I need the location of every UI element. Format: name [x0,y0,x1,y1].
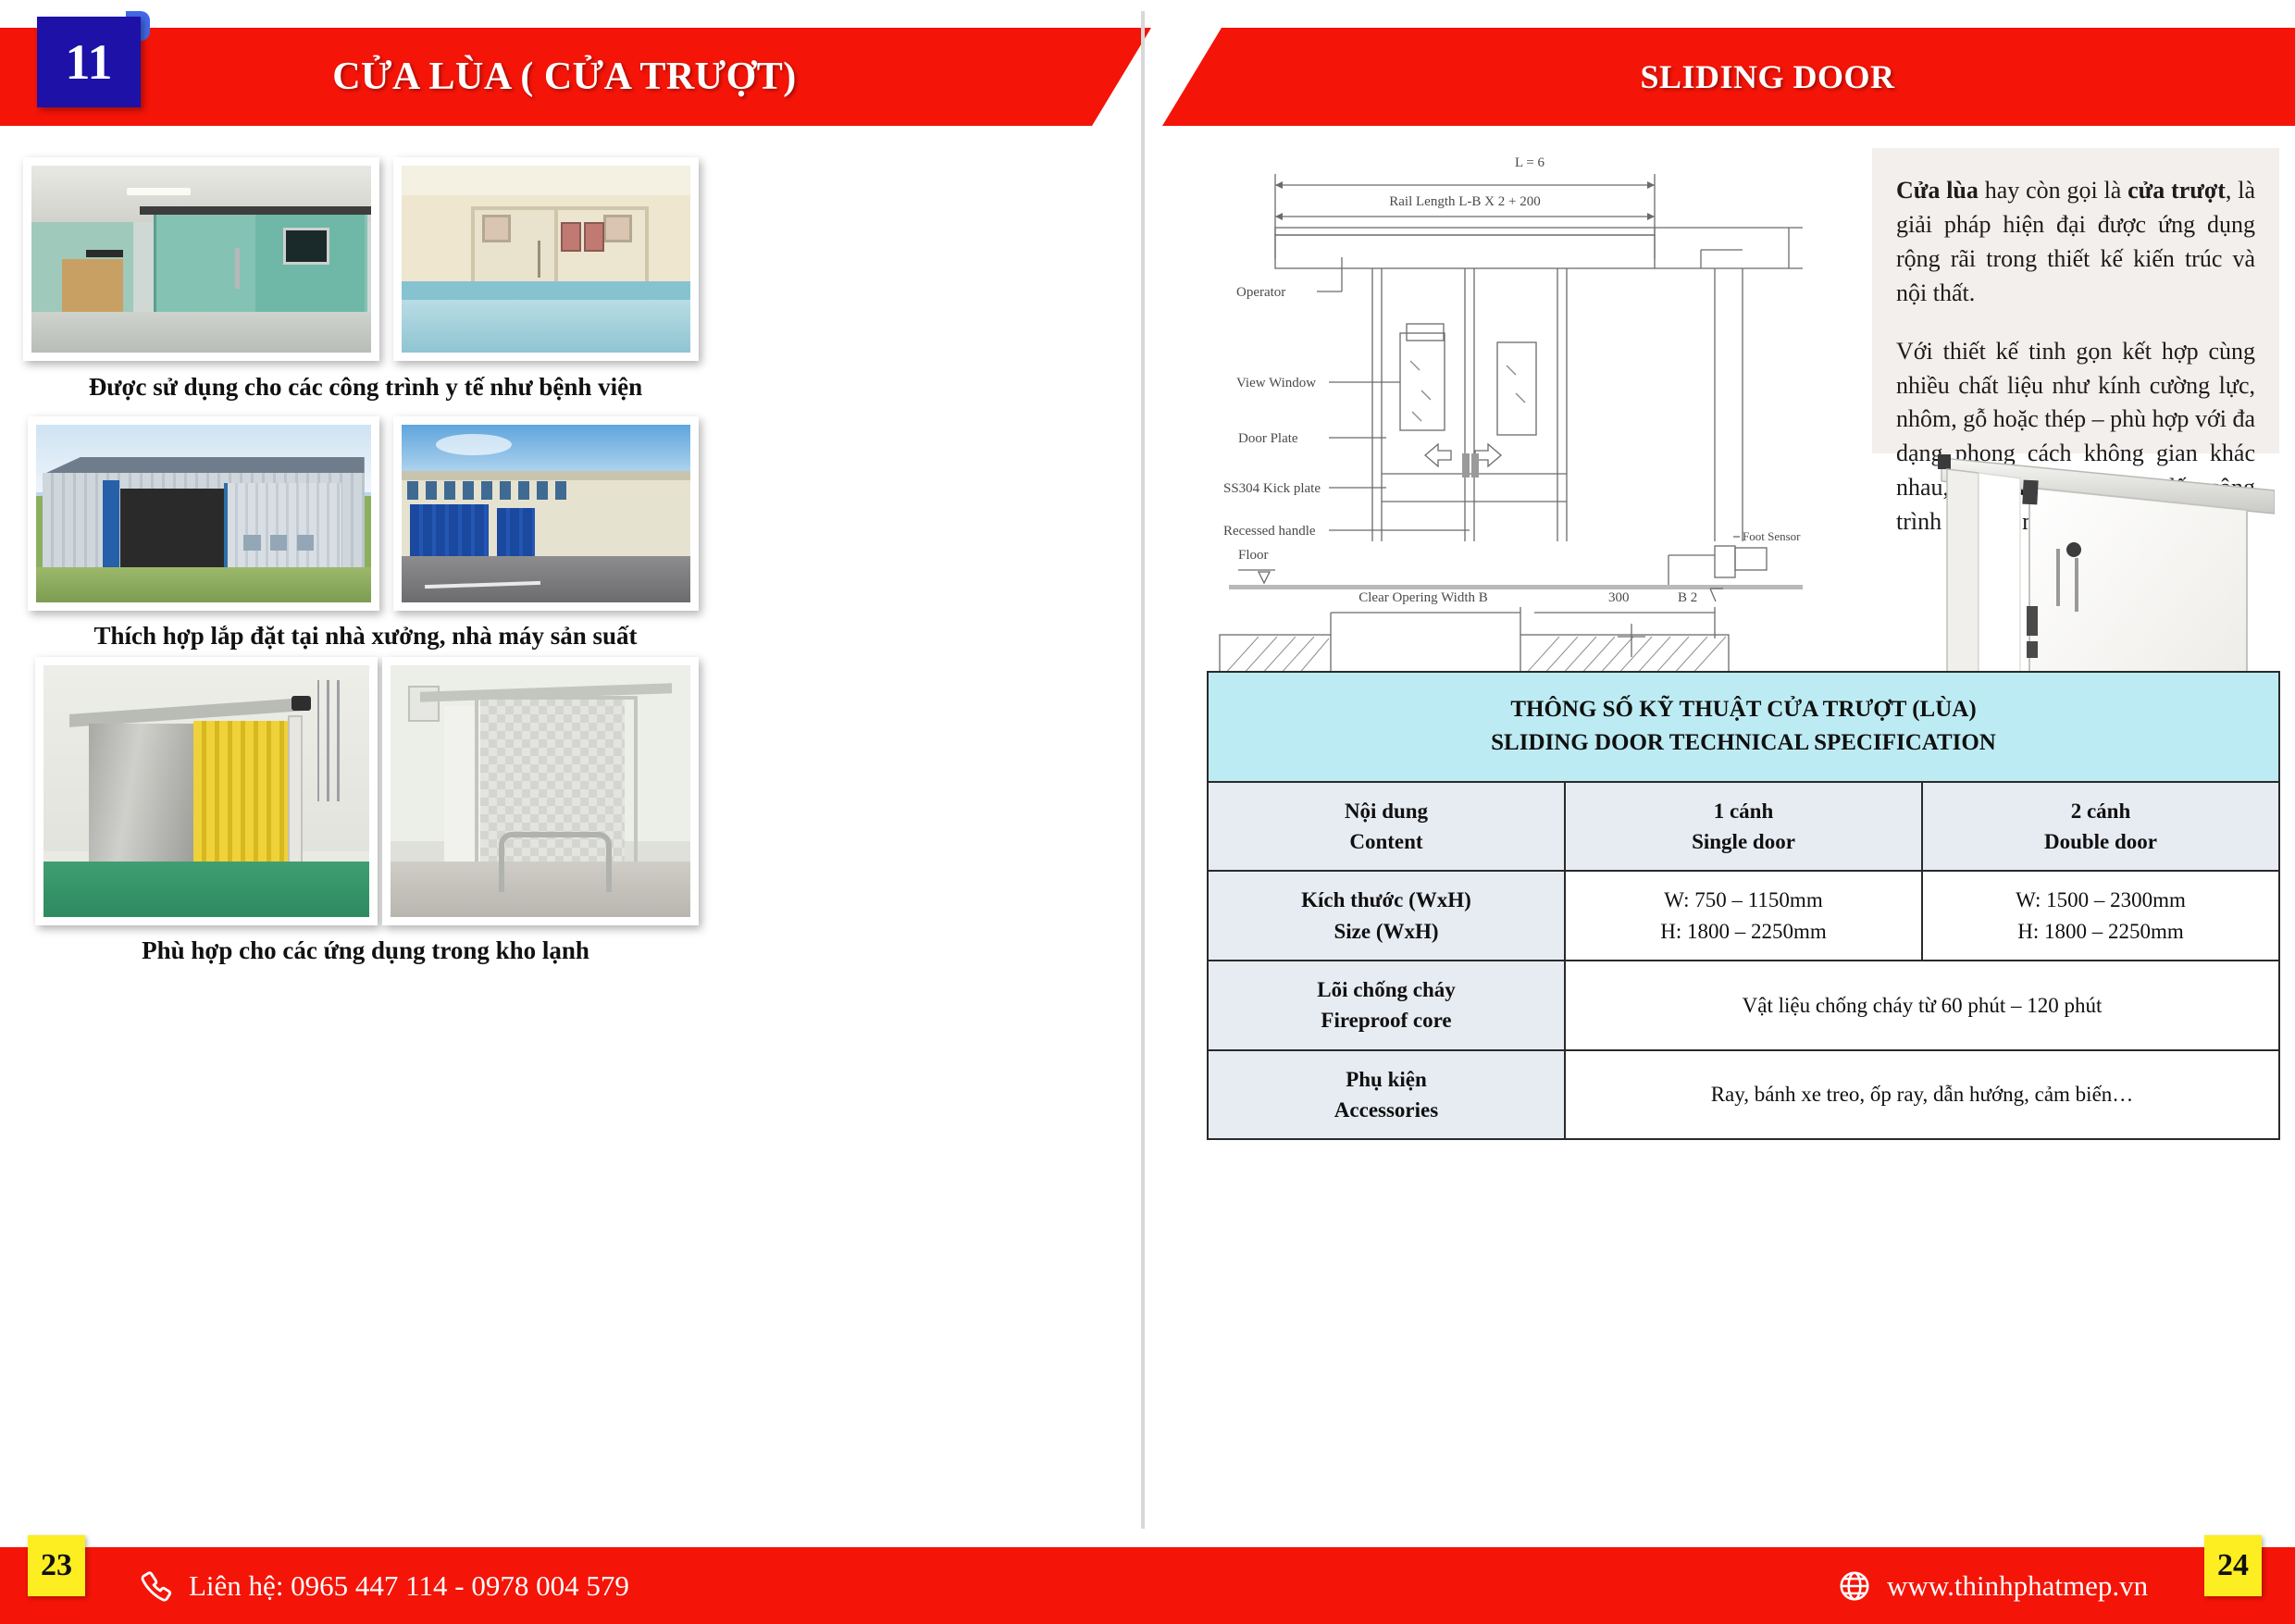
photo-caption-cold-storage: Phù hợp cho các ứng dụng trong kho lạnh [0,936,731,965]
photo-caption-factory: Thích hợp lắp đặt tại nhà xưởng, nhà máy… [0,622,731,651]
row-label-accessories-vi: Phụ kiện [1216,1064,1557,1095]
cell-size-double-width: W: 1500 – 2300mm [1930,885,2271,915]
table-title-cell: THÔNG SỐ KỸ THUẬT CỬA TRƯỢT (LÙA) SLIDIN… [1208,672,2279,782]
brochure-page: CỬA LÙA ( CỬA TRƯỢT) SLIDING DOOR 11 [0,0,2295,1624]
photo-cold-room-guard [382,657,699,925]
column-header-content: Nội dung Content [1208,782,1565,872]
row-label-accessories-en: Accessories [1216,1095,1557,1125]
photo-hospital-double-door [393,157,699,361]
row-label-size-vi: Kích thước (WxH) [1216,885,1557,915]
label-foot-sensor: Foot Sensor [1743,529,1801,543]
row-label-fireproof: Lõi chống cháy Fireproof core [1208,961,1565,1050]
sliding-door-technical-drawing: L = 6 Rail Length L-B X 2 + 200 [1210,148,1849,629]
page-title-en: SLIDING DOOR [1444,28,2091,126]
row-label-fireproof-en: Fireproof core [1216,1005,1557,1035]
label-clear-opening: Clear Opering Width B [1358,590,1488,605]
footer-page-number-left: 23 [28,1535,85,1596]
row-label-size: Kích thước (WxH) Size (WxH) [1208,871,1565,961]
photo-hospital-corridor [23,157,379,361]
technical-specification-table: THÔNG SỐ KỸ THUẬT CỬA TRƯỢT (LÙA) SLIDIN… [1207,671,2280,1140]
label-floor: Floor [1238,548,1269,563]
label-kick-plate: SS304 Kick plate [1223,481,1321,496]
cell-fireproof-value: Vật liệu chống cháy từ 60 phút – 120 phú… [1565,961,2279,1050]
column-header-double: 2 cánh Double door [1922,782,2279,872]
column-header-single-vi: 1 cánh [1573,796,1914,826]
table-title-row: THÔNG SỐ KỸ THUẬT CỬA TRƯỢT (LÙA) SLIDIN… [1208,672,2279,782]
label-dim-300: 300 [1608,590,1630,605]
cell-size-single: W: 750 – 1150mm H: 1800 – 2250mm [1565,871,1922,961]
column-header-double-vi: 2 cánh [1930,796,2271,826]
globe-icon [1837,1568,1872,1604]
cell-size-double-height: H: 1800 – 2250mm [1930,916,2271,947]
page-header: CỬA LÙA ( CỬA TRƯỢT) SLIDING DOOR [0,28,2295,126]
table-row: Lõi chống cháy Fireproof core Vật liệu c… [1208,961,2279,1050]
right-content-column: L = 6 Rail Length L-B X 2 + 200 [1155,139,2295,1527]
label-door-plate: Door Plate [1238,431,1298,446]
column-header-single: 1 cánh Single door [1565,782,1922,872]
table-header-row: Nội dung Content 1 cánh Single door 2 cá… [1208,782,2279,872]
left-photo-column: Được sử dụng cho các công trình y tế như… [0,139,1141,1527]
page-title-vi: CỬA LÙA ( CỬA TRƯỢT) [231,28,898,126]
label-recessed-handle: Recessed handle [1223,524,1316,539]
photo-industrial-plant [393,416,699,611]
cell-accessories-value: Ray, bánh xe treo, ốp ray, dẫn hướng, cả… [1565,1050,2279,1140]
column-header-double-en: Double door [1930,826,2271,857]
description-bold-term-1: Cửa lùa [1896,177,1979,204]
column-header-content-vi: Nội dung [1216,796,1557,826]
footer-contact[interactable]: Liên hệ: 0965 447 114 - 0978 004 579 [139,1547,629,1624]
label-view-window: View Window [1236,376,1316,391]
label-operator: Operator [1236,285,1285,300]
table-row: Phụ kiện Accessories Ray, bánh xe treo, … [1208,1050,2279,1140]
row-label-accessories: Phụ kiện Accessories [1208,1050,1565,1140]
footer-contact-text: Liên hệ: 0965 447 114 - 0978 004 579 [189,1569,629,1603]
section-number-badge: 11 [37,17,141,107]
column-header-single-en: Single door [1573,826,1914,857]
description-paragraph-1: Cửa lùa hay còn gọi là cửa trượt, là giả… [1896,174,2255,311]
row-label-fireproof-vi: Lõi chống cháy [1216,974,1557,1005]
phone-icon [139,1568,174,1604]
footer-page-number-right: 24 [2204,1535,2262,1596]
description-bold-term-2: cửa trượt [2128,177,2226,204]
footer-website[interactable]: www.thinhphatmep.vn [1837,1547,2148,1624]
column-header-content-en: Content [1216,826,1557,857]
footer-website-text: www.thinhphatmep.vn [1887,1569,2148,1603]
cell-size-single-height: H: 1800 – 2250mm [1573,916,1914,947]
description-panel: Cửa lùa hay còn gọi là cửa trượt, là giả… [1872,148,2279,453]
row-label-size-en: Size (WxH) [1216,916,1557,947]
table-title-vi: THÔNG SỐ KỸ THUẬT CỬA TRƯỢT (LÙA) [1216,693,2271,726]
table-row: Kích thước (WxH) Size (WxH) W: 750 – 115… [1208,871,2279,961]
photo-factory-workshop [28,416,379,611]
label-dim-b2: B 2 [1678,590,1697,605]
photo-cold-storage-door [35,657,378,925]
label-overall-length: L = 6 [1515,155,1545,170]
label-rail-length: Rail Length L-B X 2 + 200 [1389,194,1540,209]
cell-size-double: W: 1500 – 2300mm H: 1800 – 2250mm [1922,871,2279,961]
column-divider [1141,11,1145,1529]
table-title-en: SLIDING DOOR TECHNICAL SPECIFICATION [1216,726,2271,760]
description-text-mid: hay còn gọi là [1979,177,2128,204]
photo-caption-medical: Được sử dụng cho các công trình y tế như… [0,373,731,402]
cell-size-single-width: W: 750 – 1150mm [1573,885,1914,915]
